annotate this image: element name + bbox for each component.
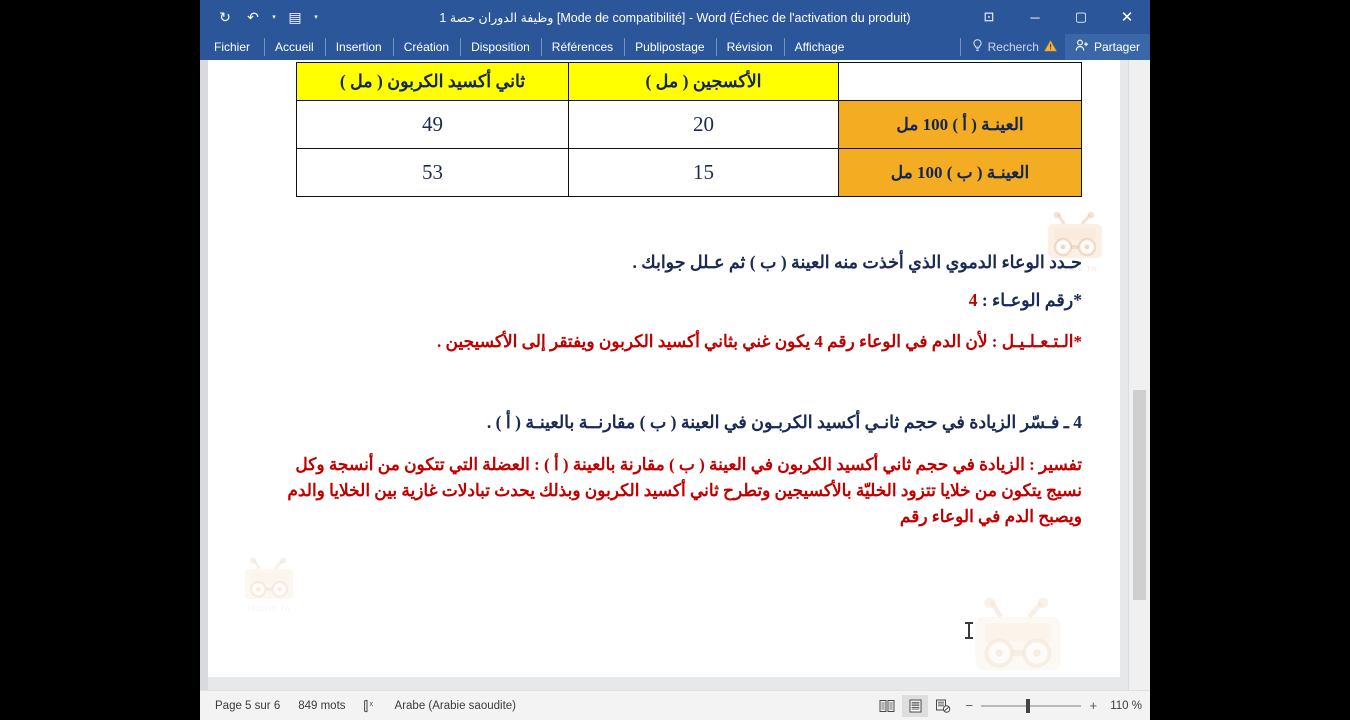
window-controls: ⊡ ─ ▢ ✕ xyxy=(966,0,1150,34)
document-area: TADRIS.TN xyxy=(200,60,1150,690)
quick-access-toolbar: ↻ ↶ ▾ ▤ ▾ xyxy=(200,4,322,30)
gas-measurement-table: الأكسجين ( مل ) ثاني أكسيد الكربون ( مل … xyxy=(296,62,1082,197)
watermark-label-2: TADRIS.TN xyxy=(236,606,302,613)
paragraph-question-3: حـدد الوعاء الدموي الذي أخذت منه العينة … xyxy=(252,250,1082,275)
share-label: Partager xyxy=(1094,40,1140,54)
minimize-button[interactable]: ─ xyxy=(1012,0,1058,34)
maximize-button[interactable]: ▢ xyxy=(1058,0,1104,34)
language-indicator[interactable]: Arabe (Arabie saoudite) xyxy=(386,700,525,712)
zoom-in-button[interactable]: + xyxy=(1088,698,1098,713)
proofing-errors-icon[interactable]: x xyxy=(355,699,386,713)
word-application-window: ↻ ↶ ▾ ▤ ▾ وظيفة الدوران حصة 1 [Mode de c… xyxy=(200,0,1150,720)
tadris-watermark-icon-3 xyxy=(960,598,1076,677)
save-icon[interactable]: ▤ xyxy=(282,4,308,30)
cell-co2-b: 53 xyxy=(297,149,569,197)
zoom-slider-thumb[interactable] xyxy=(1026,699,1030,713)
svg-text:x: x xyxy=(369,701,373,708)
paragraph-question-4: 4 ـ فـسّر الزيادة في حجم ثانـي أكسيد الك… xyxy=(252,410,1082,435)
tab-disposition[interactable]: Disposition xyxy=(460,34,541,60)
zoom-level-label[interactable]: 110 % xyxy=(1106,700,1142,712)
ribbon-right-controls: Recherch xyxy=(960,34,1150,60)
page-indicator[interactable]: Page 5 sur 6 xyxy=(206,700,289,712)
status-bar: Page 5 sur 6 849 mots x Arabe (Arabie sa… xyxy=(200,690,1150,720)
table-row: العينـة ( ب ) 100 مل 15 53 xyxy=(297,149,1082,197)
table-header-row: الأكسجين ( مل ) ثاني أكسيد الكربون ( مل … xyxy=(297,63,1082,101)
vertical-scrollbar[interactable] xyxy=(1128,60,1150,690)
tell-me-label: Recherch xyxy=(988,40,1039,54)
cell-co2-a: 49 xyxy=(297,101,569,149)
status-bar-left: Page 5 sur 6 849 mots x Arabe (Arabie sa… xyxy=(200,699,525,713)
row-label-sample-b: العينـة ( ب ) 100 مل xyxy=(839,149,1082,197)
zoom-slider-line xyxy=(981,705,1081,707)
document-page[interactable]: TADRIS.TN xyxy=(208,60,1120,677)
title-bar: ↻ ↶ ▾ ▤ ▾ وظيفة الدوران حصة 1 [Mode de c… xyxy=(200,0,1150,34)
ribbon-tab-strip: Fichier Accueil Insertion Création Dispo… xyxy=(200,34,1150,60)
zoom-slider[interactable]: − + xyxy=(958,698,1104,713)
tadris-watermark-icon-2: TADRIS.TN xyxy=(236,558,302,613)
answer-label: *رقم الوعـاء : xyxy=(977,290,1082,310)
paragraph-question-4-answer: تفسير : الزيادة في حجم ثاني أكسيد الكربو… xyxy=(262,452,1082,529)
cell-oxygen-a: 20 xyxy=(569,101,839,149)
tab-revision[interactable]: Révision xyxy=(716,34,784,60)
table-header-blank xyxy=(839,63,1082,101)
ribbon-display-options-icon[interactable]: ⊡ xyxy=(966,0,1012,34)
vertical-scrollbar-thumb[interactable] xyxy=(1133,390,1146,600)
lightbulb-icon xyxy=(972,39,983,55)
text-cursor-ibeam xyxy=(968,622,970,639)
left-gutter xyxy=(200,60,208,690)
undo-icon[interactable]: ↶ xyxy=(240,4,266,30)
tab-accueil[interactable]: Accueil xyxy=(264,34,325,60)
tab-publipostage[interactable]: Publipostage xyxy=(624,34,715,60)
print-layout-view-button[interactable] xyxy=(902,695,928,717)
cell-oxygen-b: 15 xyxy=(569,149,839,197)
table-header-oxygen: الأكسجين ( مل ) xyxy=(569,63,839,101)
row-label-sample-a: العينـة ( أ ) 100 مل xyxy=(839,101,1082,149)
status-bar-right: − + 110 % xyxy=(874,695,1150,717)
tab-affichage[interactable]: Affichage xyxy=(784,34,856,60)
close-button[interactable]: ✕ xyxy=(1104,0,1150,34)
zoom-slider-track[interactable] xyxy=(981,699,1081,713)
tab-fichier[interactable]: Fichier xyxy=(200,34,264,60)
tell-me-search-box[interactable]: Recherch xyxy=(960,34,1065,60)
customize-qat-icon[interactable]: ▾ xyxy=(310,4,322,30)
undo-dropdown-caret-icon[interactable]: ▾ xyxy=(268,4,280,30)
tab-creation[interactable]: Création xyxy=(393,34,460,60)
table-row: العينـة ( أ ) 100 مل 20 49 xyxy=(297,101,1082,149)
page-content: TADRIS.TN xyxy=(208,60,1120,677)
person-add-icon xyxy=(1075,39,1089,55)
table-header-co2: ثاني أكسيد الكربون ( مل ) xyxy=(297,63,569,101)
tab-references[interactable]: Références xyxy=(541,34,624,60)
web-layout-view-button[interactable] xyxy=(930,695,956,717)
redo-icon[interactable]: ↻ xyxy=(212,4,238,30)
zoom-out-button[interactable]: − xyxy=(964,698,974,713)
paragraph-justification: *الـتـعـلـيـل : لأن الدم في الوعاء رقم 4… xyxy=(254,330,1082,354)
read-mode-view-button[interactable] xyxy=(874,695,900,717)
word-count[interactable]: 849 mots xyxy=(289,700,354,712)
tab-insertion[interactable]: Insertion xyxy=(325,34,393,60)
screen: ↻ ↶ ▾ ▤ ▾ وظيفة الدوران حصة 1 [Mode de c… xyxy=(0,0,1350,720)
paragraph-answer-vessel: *رقم الوعـاء : 4 xyxy=(252,288,1082,313)
warning-triangle-icon[interactable] xyxy=(1044,40,1057,55)
share-button[interactable]: Partager xyxy=(1065,34,1150,60)
